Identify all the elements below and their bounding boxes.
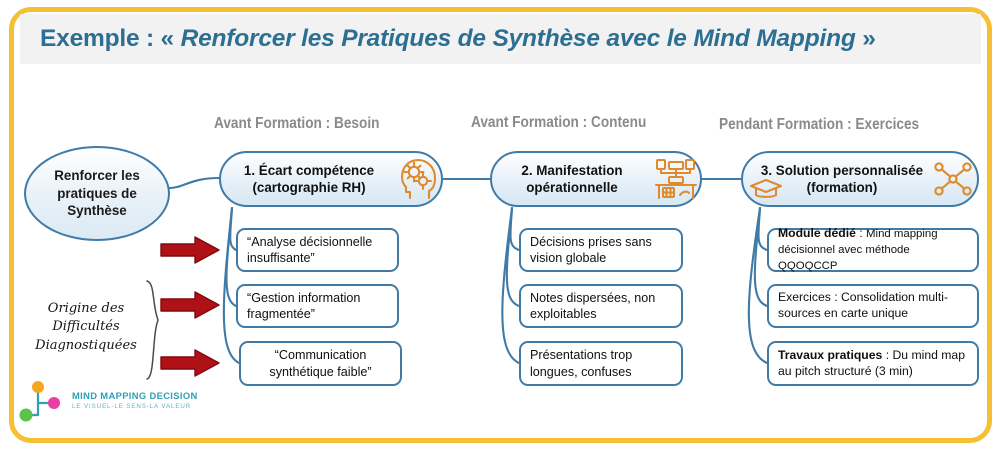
- leaf-box[interactable]: “Gestion information fragmentée”: [236, 284, 399, 328]
- branch-node-2-label: 2. Manifestation opérationnelle: [492, 162, 652, 196]
- leaf-text: Module dédié : Mind mapping décisionnel …: [778, 226, 968, 274]
- leaf-text-sep: :: [882, 348, 892, 362]
- leaf-text-bold: Travaux pratiques: [778, 348, 882, 362]
- leaf-box[interactable]: Présentations trop longues, confuses: [519, 341, 683, 386]
- branch-node-3-label: 3. Solution personnalisée (formation): [755, 162, 929, 196]
- branch-3-line-1: 3. Solution personnalisée: [761, 163, 923, 178]
- branch-node-1-label: 1. Écart compétence (cartographie RH): [221, 162, 397, 196]
- branch-3-line-2: (formation): [807, 180, 878, 195]
- leaf-text: Notes dispersées, non exploitables: [530, 290, 672, 323]
- leaf-text: Exercices : Consolidation multi-sources …: [778, 290, 968, 322]
- network-nodes-icon: [929, 162, 977, 196]
- leaf-text: “Communication synthétique faible”: [250, 347, 391, 380]
- head-gears-icon: [397, 158, 441, 200]
- logo-tagline: LE VISUEL-LE SENS-LA VALEUR: [72, 403, 198, 410]
- branch-node-manifestation-operationnelle[interactable]: 2. Manifestation opérationnelle: [490, 151, 702, 207]
- leaf-box[interactable]: Module dédié : Mind mapping décisionnel …: [767, 228, 979, 272]
- leaf-box[interactable]: “Communication synthétique faible”: [239, 341, 402, 386]
- root-line-1: Renforcer les: [54, 168, 140, 183]
- workflow-desk-icon: [652, 158, 700, 200]
- root-line-3: Synthèse: [67, 203, 127, 218]
- title-band: Exemple : « Renforcer les Pratiques de S…: [20, 14, 981, 64]
- origin-annotation: Origine des Difficultés Diagnostiquées: [18, 300, 154, 355]
- red-arrow: [159, 235, 221, 270]
- leaf-box[interactable]: Notes dispersées, non exploitables: [519, 284, 683, 328]
- branch-2-line-1: 2. Manifestation: [521, 163, 622, 178]
- branch-1-line-1: 1. Écart compétence: [244, 163, 374, 178]
- branch-node-solution-personnalisee[interactable]: 3. Solution personnalisée (formation): [741, 151, 979, 207]
- title-suffix: »: [856, 25, 876, 52]
- red-arrow: [159, 348, 221, 383]
- leaf-box[interactable]: “Analyse décisionnelle insuffisante”: [236, 228, 399, 272]
- logo[interactable]: MIND MAPPING DECISION LE VISUEL-LE SENS-…: [14, 381, 164, 431]
- branch-2-line-2: opérationnelle: [526, 180, 618, 195]
- root-node-label: Renforcer les pratiques de Synthèse: [54, 167, 140, 220]
- diagram-canvas: Exemple : « Renforcer les Pratiques de S…: [0, 0, 1001, 451]
- column-header-contenu: Avant Formation : Contenu: [471, 114, 646, 132]
- logo-name: MIND MAPPING DECISION: [72, 390, 198, 401]
- logo-nodes-icon: [14, 381, 70, 425]
- origin-line-3: Diagnostiquées: [35, 338, 137, 353]
- page-title: Exemple : « Renforcer les Pratiques de S…: [20, 25, 876, 53]
- logo-text: MIND MAPPING DECISION LE VISUEL-LE SENS-…: [72, 390, 198, 410]
- leaf-text: “Analyse décisionnelle insuffisante”: [247, 234, 388, 267]
- origin-line-1: Origine des: [48, 301, 124, 316]
- leaf-text: Présentations trop longues, confuses: [530, 347, 672, 380]
- leaf-box[interactable]: Décisions prises sans vision globale: [519, 228, 683, 272]
- leaf-text-sep: :: [856, 226, 866, 240]
- leaf-box[interactable]: Travaux pratiques : Du mind map au pitch…: [767, 341, 979, 386]
- origin-line-2: Difficultés: [52, 319, 119, 334]
- root-line-2: pratiques de: [57, 186, 137, 201]
- title-prefix: Exemple : «: [40, 25, 181, 52]
- leaf-box[interactable]: Exercices : Consolidation multi-sources …: [767, 284, 979, 328]
- leaf-text-rest: Exercices : Consolidation multi-sources …: [778, 290, 948, 320]
- leaf-text: “Gestion information fragmentée”: [247, 290, 388, 323]
- leaf-text: Travaux pratiques : Du mind map au pitch…: [778, 348, 968, 380]
- root-node[interactable]: Renforcer les pratiques de Synthèse: [24, 146, 170, 241]
- branch-node-ecart-competence[interactable]: 1. Écart compétence (cartographie RH): [219, 151, 443, 207]
- branch-1-line-2: (cartographie RH): [252, 180, 365, 195]
- red-arrow: [159, 290, 221, 325]
- column-header-besoin: Avant Formation : Besoin: [214, 115, 379, 133]
- column-header-exercices: Pendant Formation : Exercices: [719, 116, 919, 134]
- leaf-text: Décisions prises sans vision globale: [530, 234, 672, 267]
- title-quote: Renforcer les Pratiques de Synthèse avec…: [181, 25, 856, 52]
- leaf-text-bold: Module dédié: [778, 226, 856, 240]
